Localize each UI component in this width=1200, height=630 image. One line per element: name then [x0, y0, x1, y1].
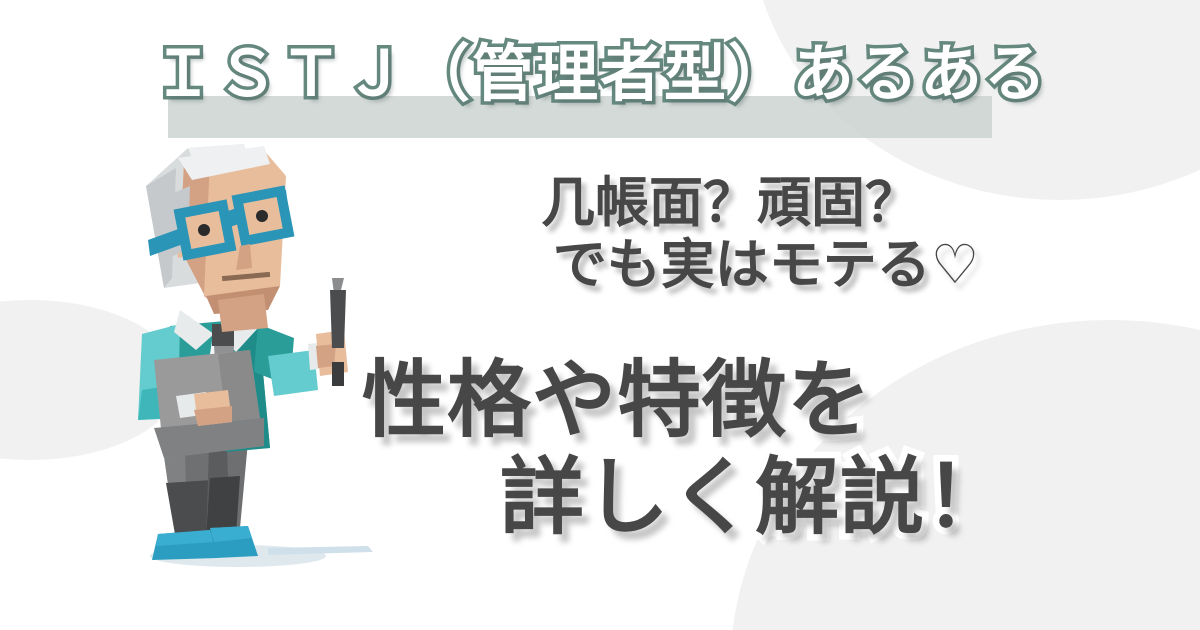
pen-icon-body [330, 290, 346, 348]
eye-right [256, 210, 268, 222]
eye-left [198, 224, 210, 236]
subtitle-line-2: でも実はモテる♡ [380, 234, 1080, 296]
main-headline-line-1: 性格や特徴を [352, 352, 1152, 449]
page-title: ＩＳＴＪ（管理者型）あるある [0, 44, 1200, 106]
subtitle-line-1: 几帳面？頑固？ [380, 172, 1080, 234]
banner-canvas: ＩＳＴＪ（管理者型）あるある 几帳面？頑固？ でも実はモテる♡ 性格や特徴を 詳… [0, 0, 1200, 630]
businessman-illustration [118, 128, 438, 578]
main-headline: 性格や特徴を 詳しく解説！ [352, 352, 1152, 547]
neck [218, 294, 268, 332]
main-headline-line-2: 詳しく解説！ [352, 449, 1152, 546]
pen-icon-end [332, 362, 344, 386]
subtitle: 几帳面？頑固？ でも実はモテる♡ [380, 172, 1080, 296]
